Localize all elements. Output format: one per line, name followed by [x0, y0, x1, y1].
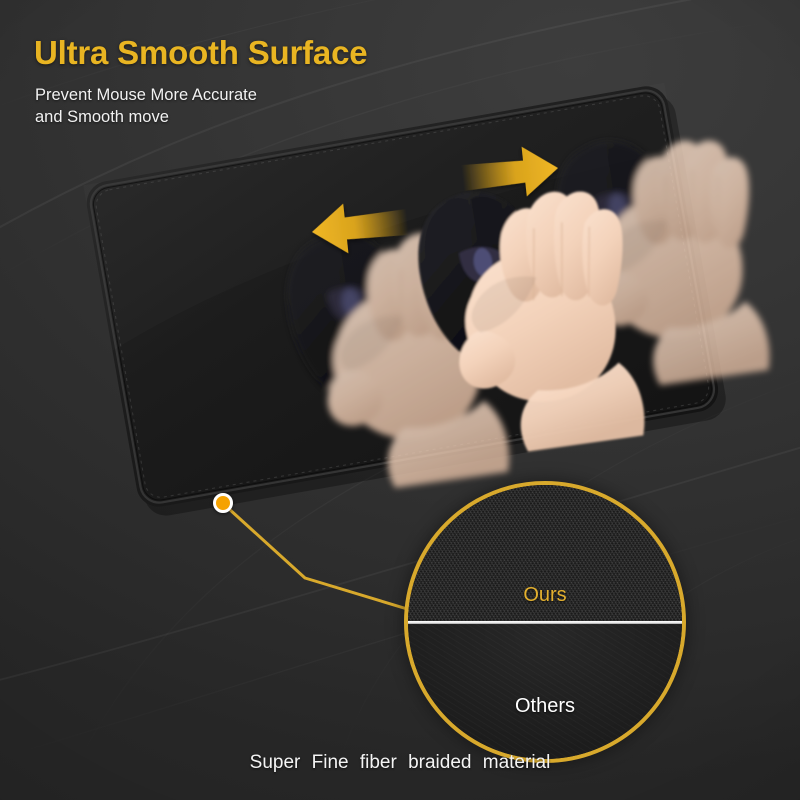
product-marketing-image: Ultra Smooth Surface Prevent Mouse More … [0, 0, 800, 800]
background-vignette [0, 0, 800, 800]
